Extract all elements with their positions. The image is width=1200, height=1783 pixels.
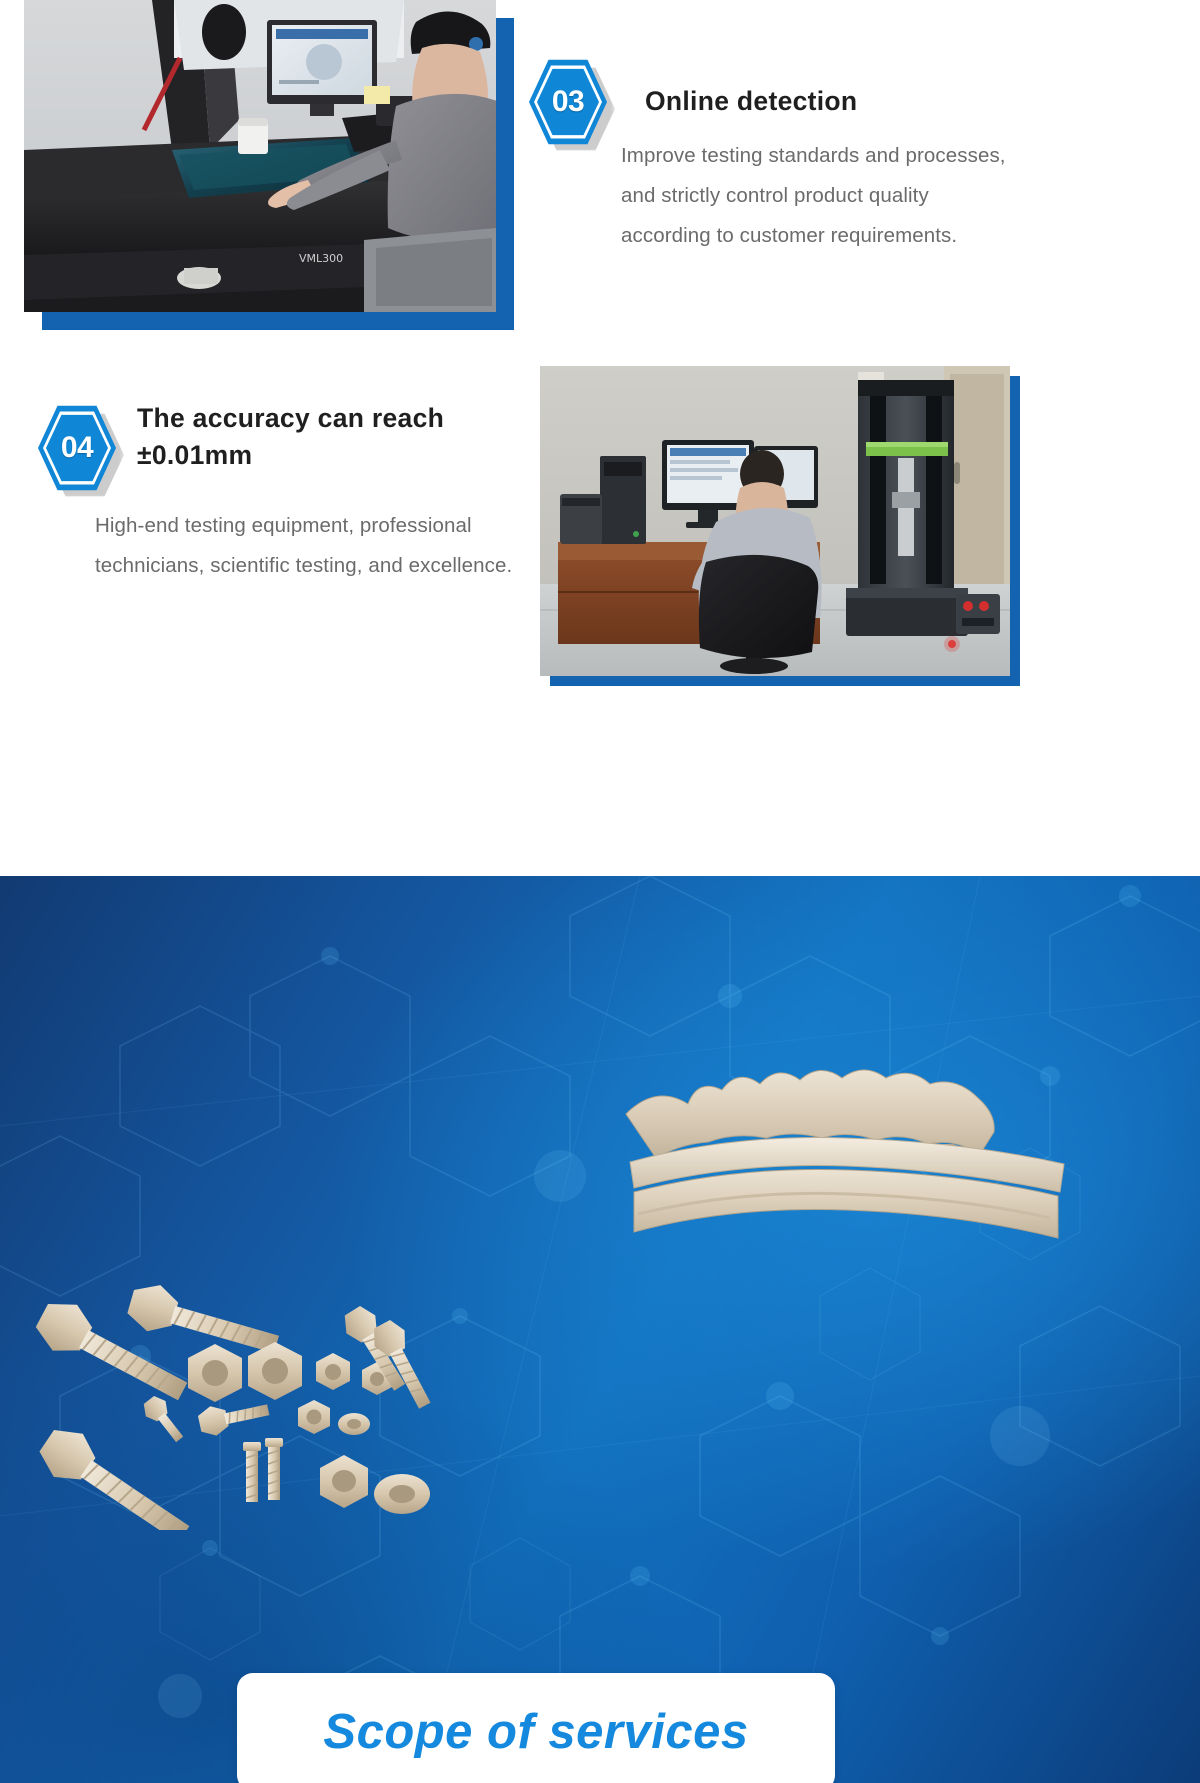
feature-number-03: 03 — [529, 58, 607, 146]
machined-peek-part-photo — [620, 1056, 1070, 1256]
accuracy-photo-wrap — [540, 366, 1020, 686]
feature-badge-03: 03 — [529, 58, 607, 146]
accuracy-photo — [540, 366, 1010, 676]
feature-body-03: Improve testing standards and processes,… — [621, 136, 1021, 256]
features-section: VML300 03 Online detection Improve testi… — [0, 0, 1200, 876]
scope-of-services-banner: Scope of services — [237, 1673, 835, 1783]
scope-banner-title: Scope of services — [323, 1704, 748, 1760]
photo-scene-tensile-lab — [540, 366, 1010, 676]
photo-scene-measuring-machine: VML300 — [24, 0, 496, 312]
scope-of-services-section: Scope of services 01 CNC processing of e… — [0, 876, 1200, 1783]
feature-number-04: 04 — [38, 404, 116, 492]
monitor-model-label: VML300 — [299, 252, 343, 265]
online-detection-photo-wrap: VML300 — [24, 0, 514, 330]
feature-body-04: High-end testing equipment, professional… — [95, 506, 525, 586]
feature-badge-04: 04 — [38, 404, 116, 492]
online-detection-photo: VML300 — [24, 0, 496, 312]
feature-title-04: The accuracy can reach ±0.01mm — [137, 400, 517, 474]
feature-title-03: Online detection — [645, 83, 1075, 120]
peek-screws-nuts-photo — [30, 1280, 480, 1530]
